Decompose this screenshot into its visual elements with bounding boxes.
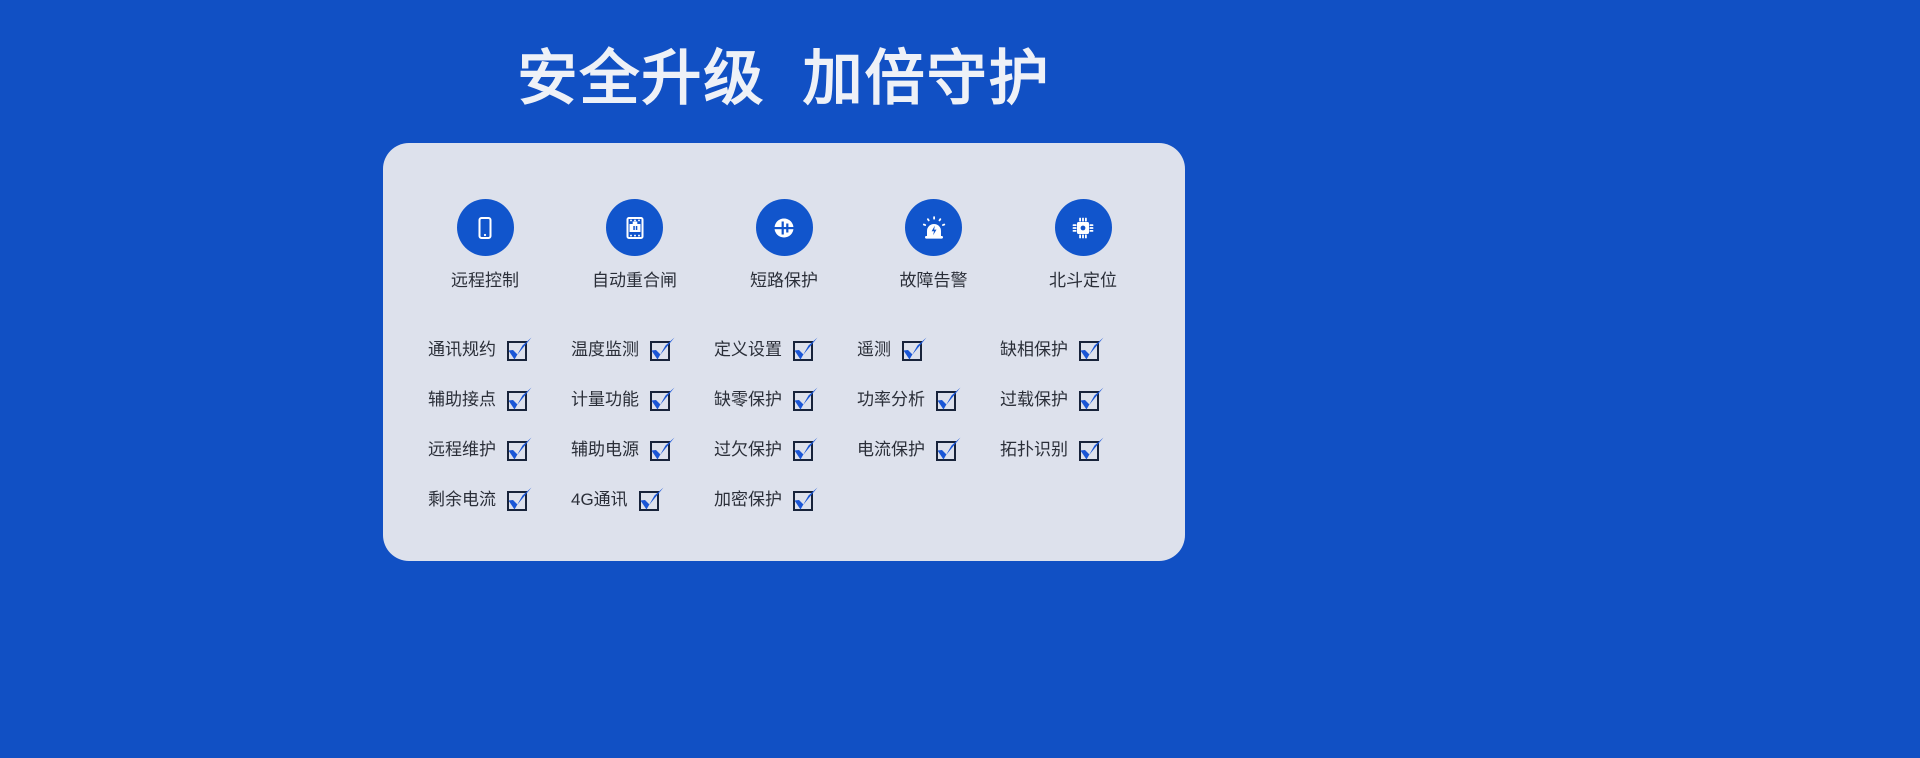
icon-feature-label: 北斗定位 xyxy=(1049,270,1117,292)
feature-item-label: 远程维护 xyxy=(428,439,496,461)
feature-item[interactable]: 功率分析 xyxy=(857,387,1000,413)
feature-item-label: 温度监测 xyxy=(571,339,639,361)
icon-feature-mobile-phone[interactable]: 远程控制 xyxy=(425,199,545,292)
icon-feature-short-circuit[interactable]: 短路保护 xyxy=(724,199,844,292)
feature-checkbox-icon[interactable] xyxy=(791,487,817,513)
feature-checkbox-icon[interactable] xyxy=(648,387,674,413)
feature-item-label: 过载保护 xyxy=(1000,389,1068,411)
feature-item-label: 计量功能 xyxy=(571,389,639,411)
feature-checkbox-icon[interactable] xyxy=(791,437,817,463)
icon-feature-circuit-breaker[interactable]: 自动重合闸 xyxy=(575,199,695,292)
feature-row: 剩余电流4G通讯加密保护 xyxy=(428,475,1144,525)
feature-checkbox-icon[interactable] xyxy=(934,387,960,413)
check-tick-icon xyxy=(1077,337,1107,365)
feature-card: 远程控制自动重合闸短路保护故障告警北斗定位 通讯规约温度监测定义设置遥测缺相保护… xyxy=(383,143,1185,561)
feature-checkbox-icon[interactable] xyxy=(1077,387,1103,413)
feature-item[interactable]: 电流保护 xyxy=(857,437,1000,463)
feature-checkbox-icon[interactable] xyxy=(934,437,960,463)
icon-feature-label: 自动重合闸 xyxy=(592,270,677,292)
icon-feature-alarm-siren[interactable]: 故障告警 xyxy=(874,199,994,292)
alarm-siren-icon xyxy=(905,199,962,256)
feature-checkbox-icon[interactable] xyxy=(505,437,531,463)
feature-checkbox-icon[interactable] xyxy=(648,437,674,463)
promo-banner: 安全升级 加倍守护 远程控制自动重合闸短路保护故障告警北斗定位 通讯规约温度监测… xyxy=(0,0,1920,758)
feature-item[interactable]: 辅助接点 xyxy=(428,387,571,413)
feature-item-label: 剩余电流 xyxy=(428,489,496,511)
check-tick-icon xyxy=(791,487,821,515)
feature-item-label: 电流保护 xyxy=(857,439,925,461)
feature-checkbox-icon[interactable] xyxy=(637,487,663,513)
check-tick-icon xyxy=(648,437,678,465)
check-tick-icon xyxy=(637,487,667,515)
check-tick-icon xyxy=(900,337,930,365)
feature-item-label: 缺相保护 xyxy=(1000,339,1068,361)
feature-checkbox-icon[interactable] xyxy=(648,337,674,363)
feature-checkbox-icon[interactable] xyxy=(1077,337,1103,363)
feature-item[interactable]: 剩余电流 xyxy=(428,487,571,513)
check-tick-icon xyxy=(648,387,678,415)
feature-item[interactable]: 缺零保护 xyxy=(714,387,857,413)
circuit-breaker-icon xyxy=(606,199,663,256)
feature-item-label: 拓扑识别 xyxy=(1000,439,1068,461)
icon-feature-chip-location[interactable]: 北斗定位 xyxy=(1023,199,1143,292)
feature-row: 辅助接点计量功能缺零保护功率分析过载保护 xyxy=(428,375,1144,425)
check-tick-icon xyxy=(934,437,964,465)
feature-checkbox-icon[interactable] xyxy=(791,337,817,363)
feature-item[interactable]: 4G通讯 xyxy=(571,487,714,513)
check-tick-icon xyxy=(505,487,535,515)
icon-feature-row: 远程控制自动重合闸短路保护故障告警北斗定位 xyxy=(383,199,1185,292)
chip-location-icon xyxy=(1055,199,1112,256)
check-tick-icon xyxy=(1077,437,1107,465)
icon-feature-label: 故障告警 xyxy=(900,270,968,292)
feature-checklist-grid: 通讯规约温度监测定义设置遥测缺相保护辅助接点计量功能缺零保护功率分析过载保护远程… xyxy=(428,325,1144,525)
feature-item[interactable]: 过载保护 xyxy=(1000,387,1143,413)
feature-checkbox-icon[interactable] xyxy=(505,487,531,513)
feature-item[interactable]: 定义设置 xyxy=(714,337,857,363)
check-tick-icon xyxy=(505,437,535,465)
feature-checkbox-icon[interactable] xyxy=(791,387,817,413)
feature-item-label: 遥测 xyxy=(857,339,891,361)
feature-item-label: 过欠保护 xyxy=(714,439,782,461)
feature-item-label: 辅助电源 xyxy=(571,439,639,461)
feature-item[interactable]: 计量功能 xyxy=(571,387,714,413)
feature-checkbox-icon[interactable] xyxy=(505,337,531,363)
feature-checkbox-icon[interactable] xyxy=(505,387,531,413)
feature-item[interactable]: 辅助电源 xyxy=(571,437,714,463)
check-tick-icon xyxy=(1077,387,1107,415)
feature-item[interactable]: 过欠保护 xyxy=(714,437,857,463)
check-tick-icon xyxy=(505,387,535,415)
feature-item-label: 通讯规约 xyxy=(428,339,496,361)
feature-item-label: 4G通讯 xyxy=(571,489,628,511)
check-tick-icon xyxy=(791,437,821,465)
icon-feature-label: 短路保护 xyxy=(750,270,818,292)
feature-item-label: 定义设置 xyxy=(714,339,782,361)
feature-item[interactable]: 缺相保护 xyxy=(1000,337,1143,363)
check-tick-icon xyxy=(934,387,964,415)
check-tick-icon xyxy=(791,337,821,365)
page-title: 安全升级 加倍守护 xyxy=(0,42,1568,116)
feature-item[interactable]: 通讯规约 xyxy=(428,337,571,363)
feature-item[interactable]: 遥测 xyxy=(857,337,1000,363)
feature-checkbox-icon[interactable] xyxy=(1077,437,1103,463)
short-circuit-icon xyxy=(756,199,813,256)
feature-item-label: 加密保护 xyxy=(714,489,782,511)
feature-item-label: 辅助接点 xyxy=(428,389,496,411)
feature-checkbox-icon[interactable] xyxy=(900,337,926,363)
feature-item[interactable]: 远程维护 xyxy=(428,437,571,463)
check-tick-icon xyxy=(648,337,678,365)
feature-item[interactable]: 温度监测 xyxy=(571,337,714,363)
feature-item[interactable]: 加密保护 xyxy=(714,487,857,513)
check-tick-icon xyxy=(505,337,535,365)
feature-row: 远程维护辅助电源过欠保护电流保护拓扑识别 xyxy=(428,425,1144,475)
feature-item[interactable]: 拓扑识别 xyxy=(1000,437,1143,463)
feature-item-label: 功率分析 xyxy=(857,389,925,411)
check-tick-icon xyxy=(791,387,821,415)
icon-feature-label: 远程控制 xyxy=(451,270,519,292)
mobile-phone-icon xyxy=(457,199,514,256)
feature-row: 通讯规约温度监测定义设置遥测缺相保护 xyxy=(428,325,1144,375)
feature-item-label: 缺零保护 xyxy=(714,389,782,411)
